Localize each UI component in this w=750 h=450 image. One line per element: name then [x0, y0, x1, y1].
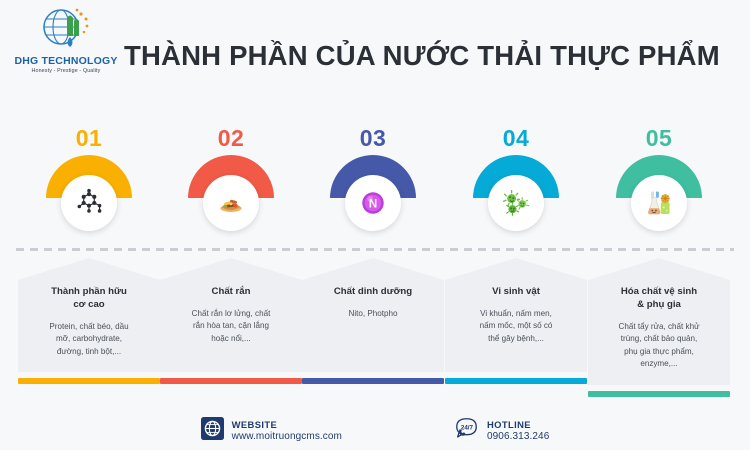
- card-desc-5: Chất tẩy rửa, chất khử trùng, chất bảo q…: [600, 321, 718, 371]
- step-number-3: 03: [302, 125, 444, 151]
- card-body-2: Chất rắn Chất rắn lơ lửng, chất rắn hòa …: [160, 280, 302, 372]
- step-badge-3: N: [302, 155, 444, 243]
- step-column-1: 01: [18, 125, 160, 243]
- card-desc-3: Nito, Photpho: [314, 308, 432, 321]
- page-title: THÀNH PHẦN CỦA NƯỚC THẢI THỰC PHẨM: [124, 40, 724, 72]
- footer-website-value: www.moitruongcms.com: [232, 431, 342, 444]
- step-badge-1: [18, 155, 160, 243]
- card-title-1: Thành phần hữu cơ cao: [30, 286, 148, 312]
- microbe-icon: [501, 188, 531, 218]
- info-card-4: Vi sinh vật Vi khuẩn, nấm men, nấm mốc, …: [445, 258, 587, 384]
- card-roof-1: [18, 258, 160, 280]
- card-accent-bar-5: [588, 391, 730, 397]
- card-body-4: Vi sinh vật Vi khuẩn, nấm men, nấm mốc, …: [445, 280, 587, 372]
- step-number-4: 04: [445, 125, 587, 151]
- step-badge-2: [160, 155, 302, 243]
- molecule-icon: [74, 188, 104, 218]
- card-body-3: Chất dinh dưỡng Nito, Photpho: [302, 280, 444, 372]
- card-accent-bar-4: [445, 378, 587, 384]
- logo-name: DHG TECHNOLOGY: [14, 55, 117, 67]
- footer-website-text: WEBSITE www.moitruongcms.com: [232, 419, 342, 444]
- card-roof-5: [588, 258, 730, 280]
- card-title-4: Vi sinh vật: [457, 286, 575, 299]
- info-card-2: Chất rắn Chất rắn lơ lửng, chất rắn hòa …: [160, 258, 302, 384]
- brand-logo: DHG TECHNOLOGY Honesty - Prestige - Qual…: [18, 6, 114, 74]
- infographic-page: DHG TECHNOLOGY Honesty - Prestige - Qual…: [0, 0, 750, 450]
- card-desc-2: Chất rắn lơ lửng, chất rắn hòa tan, cặn …: [172, 308, 290, 346]
- icon-bubble-2: [203, 175, 259, 231]
- card-title-3: Chất dinh dưỡng: [314, 286, 432, 299]
- footer-hotline-value: 0906.313.246: [487, 431, 549, 444]
- icon-bubble-5: [631, 175, 687, 231]
- footer-hotline-label: HOTLINE: [487, 419, 549, 431]
- step-number-1: 01: [18, 125, 160, 151]
- footer-hotline-text: HOTLINE 0906.313.246: [487, 419, 549, 444]
- info-card-1: Thành phần hữu cơ cao Protein, chất béo,…: [18, 258, 160, 384]
- logo-tagline: Honesty - Prestige - Quality: [32, 68, 101, 74]
- info-card-3: Chất dinh dưỡng Nito, Photpho: [302, 258, 444, 384]
- card-desc-1: Protein, chất béo, dầu mỡ, carbohydrate,…: [30, 321, 148, 359]
- svg-text:24/7: 24/7: [461, 424, 474, 431]
- footer-website: WEBSITE www.moitruongcms.com: [201, 417, 342, 445]
- card-title-5: Hóa chất vệ sinh & phụ gia: [600, 286, 718, 312]
- step-badge-5: [588, 155, 730, 243]
- globe-leaf-logo-icon: [37, 6, 95, 53]
- card-roof-2: [160, 258, 302, 280]
- card-desc-4: Vi khuẩn, nấm men, nấm mốc, một số có th…: [457, 308, 575, 346]
- nitrogen-atom-icon: N: [359, 189, 387, 217]
- step-column-2: 02: [160, 125, 302, 243]
- footer-website-label: WEBSITE: [232, 419, 342, 431]
- icon-bubble-1: [61, 175, 117, 231]
- card-body-1: Thành phần hữu cơ cao Protein, chất béo,…: [18, 280, 160, 372]
- card-accent-bar-1: [18, 378, 160, 384]
- step-number-2: 02: [160, 125, 302, 151]
- step-number-5: 05: [588, 125, 730, 151]
- card-accent-bar-3: [302, 378, 444, 384]
- chemical-flask-icon: [644, 188, 674, 218]
- footer-hotline: 24/7 HOTLINE 0906.313.246: [454, 417, 549, 445]
- footer: WEBSITE www.moitruongcms.com 24/7 HOTLIN…: [0, 412, 750, 450]
- step-column-4: 04: [445, 125, 587, 243]
- step-column-5: 05: [588, 125, 730, 243]
- card-body-5: Hóa chất vệ sinh & phụ gia Chất tẩy rửa,…: [588, 280, 730, 385]
- food-waste-icon: [216, 188, 246, 218]
- icon-bubble-4: [488, 175, 544, 231]
- hotline-24-7-icon: 24/7: [454, 417, 479, 445]
- globe-icon: [201, 417, 224, 445]
- card-roof-3: [302, 258, 444, 280]
- svg-text:N: N: [369, 199, 377, 211]
- icon-bubble-3: N: [345, 175, 401, 231]
- card-roof-4: [445, 258, 587, 280]
- step-badge-4: [445, 155, 587, 243]
- info-card-5: Hóa chất vệ sinh & phụ gia Chất tẩy rửa,…: [588, 258, 730, 397]
- card-accent-bar-2: [160, 378, 302, 384]
- card-title-2: Chất rắn: [172, 286, 290, 299]
- timeline-axis: [16, 248, 734, 251]
- step-column-3: 03 N: [302, 125, 444, 243]
- header: DHG TECHNOLOGY Honesty - Prestige - Qual…: [0, 0, 750, 100]
